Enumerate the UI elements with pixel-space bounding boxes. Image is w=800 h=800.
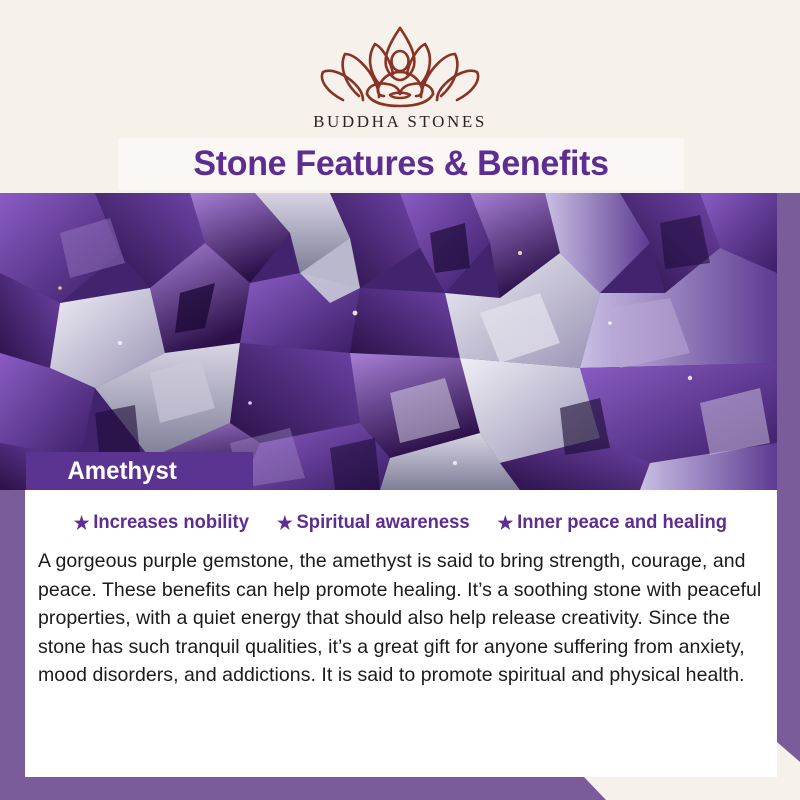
- stone-name-banner: Amethyst: [26, 452, 253, 490]
- benefit-item-1: ★ Spiritual awareness: [277, 512, 470, 534]
- star-icon: ★: [74, 514, 90, 532]
- benefit-item-2: ★ Inner peace and healing: [498, 512, 727, 534]
- lotus-meditation-figure-icon: [305, 22, 495, 110]
- benefits-list: ★ Increases nobility ★ Spiritual awarene…: [25, 490, 777, 534]
- hero-image: [0, 193, 777, 490]
- brand-logo: BUDDHA STONES: [0, 22, 800, 132]
- frame-band-left: [0, 490, 25, 800]
- brand-name: BUDDHA STONES: [0, 112, 800, 132]
- benefit-label: Spiritual awareness: [296, 512, 469, 534]
- description-paragraph: A gorgeous purple gemstone, the amethyst…: [38, 547, 765, 690]
- amethyst-crystal-cluster-photo: [0, 193, 777, 490]
- card-content: ★ Increases nobility ★ Spiritual awarene…: [25, 490, 777, 777]
- benefit-label: Inner peace and healing: [517, 512, 727, 534]
- star-icon: ★: [498, 514, 514, 532]
- star-icon: ★: [277, 514, 293, 532]
- stone-name-label: Amethyst: [29, 457, 177, 486]
- title-band: Stone Features & Benefits: [118, 138, 684, 190]
- stone-info-card: BUDDHA STONES Stone Features & Benefits: [0, 0, 800, 800]
- benefit-label: Increases nobility: [93, 512, 249, 534]
- benefit-item-0: ★ Increases nobility: [74, 512, 249, 534]
- page-title: Stone Features & Benefits: [193, 144, 608, 184]
- frame-band-bottom: [0, 777, 606, 800]
